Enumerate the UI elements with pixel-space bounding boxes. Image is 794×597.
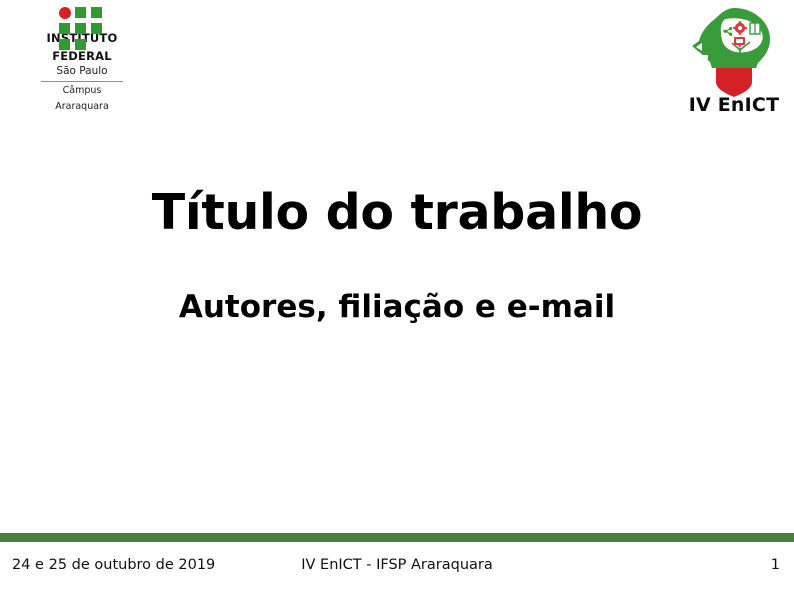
footer: 24 e 25 de outubro de 2019 IV EnICT - IF… <box>0 556 794 580</box>
ifsp-logo: INSTITUTO FEDERAL São Paulo Câmpus Arara… <box>30 4 134 112</box>
slide-title: Título do trabalho <box>0 185 794 241</box>
ifsp-square <box>75 23 86 34</box>
ifsp-campus-name: Araraquara <box>55 101 109 113</box>
footer-event-name: IV EnICT - IFSP Araraquara <box>0 556 794 574</box>
slide-canvas: INSTITUTO FEDERAL São Paulo Câmpus Arara… <box>0 0 794 597</box>
ifsp-campus-label: Câmpus <box>63 85 102 97</box>
enict-head-lightbulb-logo-icon <box>682 2 786 98</box>
ifsp-square <box>59 39 70 50</box>
slide-subtitle: Autores, filiação e e-mail <box>0 288 794 326</box>
ifsp-square <box>91 23 102 34</box>
ifsp-logo-mark-icon <box>59 7 105 26</box>
enict-logo-label: IV EnICT <box>682 94 786 116</box>
ifsp-square <box>75 7 86 18</box>
footer-divider-bar <box>0 533 794 542</box>
ifsp-institute-line2: FEDERAL <box>52 51 112 63</box>
ifsp-red-dot-icon <box>59 7 71 19</box>
ifsp-square <box>91 7 102 18</box>
ifsp-square <box>59 23 70 34</box>
ifsp-state-label: São Paulo <box>56 66 107 77</box>
ifsp-square <box>75 39 86 50</box>
footer-page-number: 1 <box>771 556 780 574</box>
book-icon <box>750 23 760 34</box>
enict-logo: IV EnICT <box>682 2 786 124</box>
